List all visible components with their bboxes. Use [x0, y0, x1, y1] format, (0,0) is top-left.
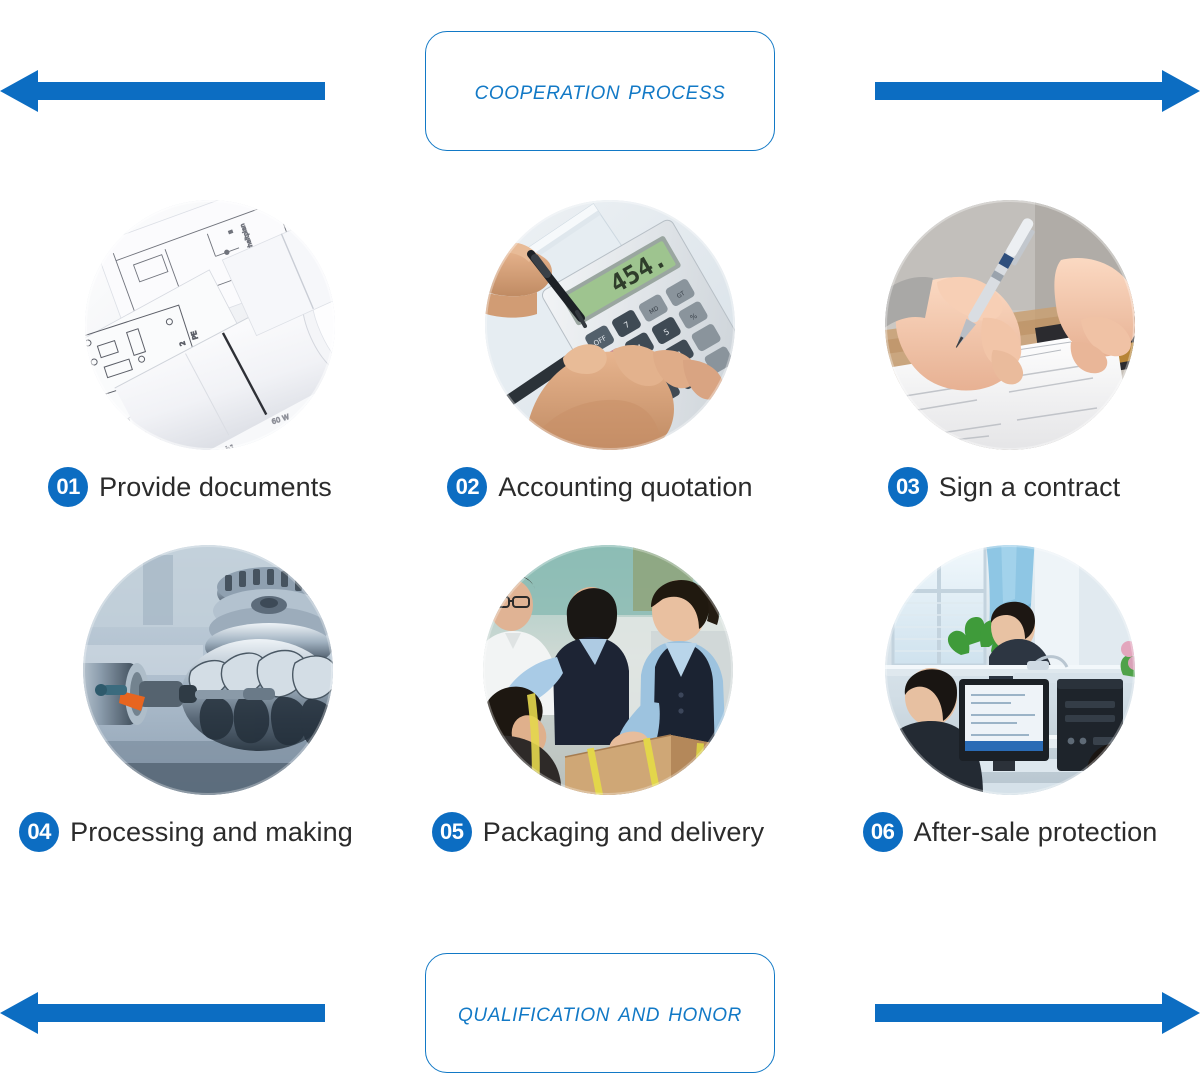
step-badge-01: 01 [48, 467, 88, 507]
step-badge-04: 04 [19, 812, 59, 852]
step-badge-05: 05 [432, 812, 472, 852]
step-caption-06: 06 After-sale protection [863, 812, 1158, 852]
step-label-01: Provide documents [99, 472, 332, 503]
process-step-04[interactable]: 04 Processing and making [0, 545, 400, 890]
contract-signing-photo [885, 200, 1135, 450]
packaging-workers-photo [483, 545, 733, 795]
office-support-photo [885, 545, 1135, 795]
qualification-honor-title-box: Qualification and honor [425, 953, 775, 1073]
step-label-04: Processing and making [70, 817, 353, 848]
step-label-05: Packaging and delivery [483, 817, 764, 848]
step-caption-03: 03 Sign a contract [888, 467, 1121, 507]
step-label-03: Sign a contract [939, 472, 1121, 503]
arrow-right-icon [875, 990, 1200, 1036]
step-label-02: Accounting quotation [498, 472, 752, 503]
cooperation-process-title: Cooperation process [475, 75, 726, 106]
step-badge-02: 02 [447, 467, 487, 507]
process-step-01[interactable]: b1 60 W [0, 200, 400, 545]
step-caption-02: 02 Accounting quotation [447, 467, 752, 507]
process-step-05[interactable]: 05 Packaging and delivery [400, 545, 800, 890]
cnc-machining-photo [83, 545, 333, 795]
qualification-honor-title: Qualification and honor [458, 997, 742, 1028]
calculator-hands-photo: 454. OFF 7 MD GT [485, 200, 735, 450]
step-caption-01: 01 Provide documents [48, 467, 332, 507]
process-step-02[interactable]: 454. OFF 7 MD GT [400, 200, 800, 545]
step-badge-06: 06 [863, 812, 903, 852]
cooperation-process-banner: Cooperation process [0, 28, 1200, 153]
blueprint-rolls-photo: b1 60 W [85, 200, 335, 450]
step-caption-04: 04 Processing and making [19, 812, 353, 852]
arrow-left-icon [0, 990, 325, 1036]
step-caption-05: 05 Packaging and delivery [432, 812, 764, 852]
step-badge-03: 03 [888, 467, 928, 507]
qualification-honor-banner: Qualification and honor [0, 950, 1200, 1075]
process-step-03[interactable]: 03 Sign a contract [800, 200, 1200, 545]
arrow-left-icon [0, 68, 325, 114]
process-steps-grid: b1 60 W [0, 200, 1200, 890]
process-step-06[interactable]: 06 After-sale protection [800, 545, 1200, 890]
cooperation-process-title-box: Cooperation process [425, 31, 775, 151]
arrow-right-icon [875, 68, 1200, 114]
step-label-06: After-sale protection [914, 817, 1158, 848]
